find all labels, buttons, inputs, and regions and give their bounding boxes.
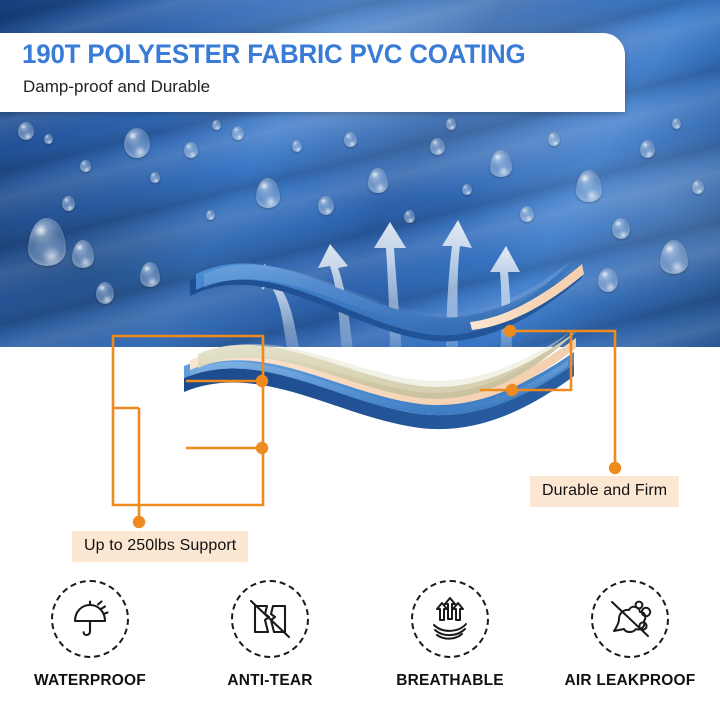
- title-banner: 190T POLYESTER FABRIC PVC COATING Damp-p…: [0, 33, 625, 112]
- water-droplet: [344, 132, 357, 147]
- feature-circle-anti-tear: [231, 580, 309, 658]
- water-droplet: [318, 196, 334, 215]
- feature-circle-breathable: [411, 580, 489, 658]
- feature-anti-tear: ANTI-TEAR: [185, 580, 355, 690]
- water-droplet: [692, 180, 704, 194]
- water-droplet: [212, 120, 221, 130]
- feature-circle-air-leakproof: [591, 580, 669, 658]
- water-droplet: [124, 128, 150, 158]
- page-subtitle: Damp-proof and Durable: [23, 77, 210, 97]
- air-puff-slash-icon: [606, 595, 654, 643]
- water-droplet: [490, 150, 512, 177]
- water-droplet: [462, 184, 472, 195]
- product-infographic: Up to 250lbs Support Durable and Firm 19…: [0, 0, 720, 720]
- water-droplet: [232, 126, 244, 140]
- feature-waterproof: WATERPROOF: [5, 580, 175, 690]
- water-droplet: [640, 140, 655, 158]
- water-droplet: [368, 168, 388, 193]
- torn-paper-slash-icon: [246, 595, 294, 643]
- water-droplet: [62, 196, 75, 211]
- water-droplet: [430, 138, 445, 155]
- page-title: 190T POLYESTER FABRIC PVC COATING: [22, 39, 526, 70]
- feature-label-breathable: BREATHABLE: [396, 672, 504, 690]
- umbrella-rain-icon: [67, 596, 113, 642]
- water-droplet: [598, 268, 618, 292]
- callout-tag-support: Up to 250lbs Support: [72, 531, 248, 562]
- feature-label-anti-tear: ANTI-TEAR: [227, 672, 312, 690]
- water-droplet: [96, 282, 114, 304]
- feature-air-leakproof: AIR LEAKPROOF: [545, 580, 715, 690]
- water-droplet: [140, 262, 160, 287]
- water-droplet: [672, 118, 681, 129]
- water-droplet: [184, 142, 198, 158]
- water-droplet: [612, 218, 630, 239]
- water-droplet: [18, 122, 34, 140]
- callout-dot: [133, 516, 145, 528]
- water-droplet: [292, 140, 302, 152]
- material-layers-illustration: [170, 218, 590, 508]
- water-droplet: [80, 160, 91, 172]
- water-droplet: [150, 172, 160, 183]
- feature-breathable: BREATHABLE: [365, 580, 535, 690]
- feature-label-air-leakproof: AIR LEAKPROOF: [565, 672, 696, 690]
- feature-label-waterproof: WATERPROOF: [34, 672, 146, 690]
- feature-circle-waterproof: [51, 580, 129, 658]
- water-droplet: [446, 118, 456, 130]
- top-blue-pvc-layer: [190, 252, 584, 341]
- callout-tag-durable: Durable and Firm: [530, 476, 679, 507]
- up-arrows-fabric-icon: [426, 595, 474, 643]
- callout-dot: [609, 462, 621, 474]
- water-droplet: [44, 134, 53, 144]
- water-droplet: [548, 132, 560, 146]
- feature-icon-row: WATERPROOF ANTI-TEAR: [0, 580, 720, 705]
